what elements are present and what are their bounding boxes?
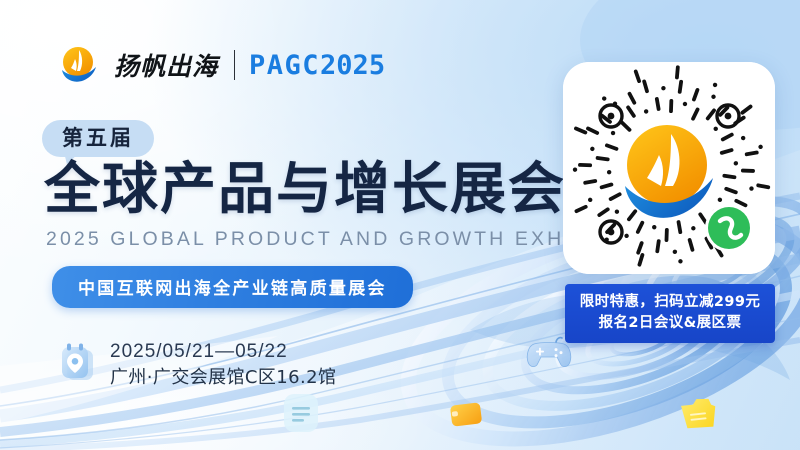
event-date: 2025/05/21—05/22 [110,340,336,365]
promo-banner[interactable]: 限时特惠，扫码立减299元 报名2日会议&展区票 [565,284,775,343]
document-icon [280,390,324,441]
poster-canvas: 扬帆出海 PAGC2025 第五届 全球产品与增长展会 2025 GLOBAL … [0,0,800,450]
event-info-text: 2025/05/21—05/22 广州·广交会展馆C区16.2馆 [110,340,336,390]
event-code-logo: PAGC2025 [249,50,385,81]
event-year: 2025 [320,50,385,81]
edition-badge-wrapper: 第五届 [42,120,154,157]
promo-line-1: 限时特惠，扫码立减299元 [571,292,769,313]
edition-badge: 第五届 [42,120,154,157]
promo-line-2: 报名2日会议&展区票 [571,313,769,334]
page-title: 全球产品与增长展会 [44,160,566,219]
location-pin-icon [58,342,100,388]
brand-name-zh: 扬帆出海 [114,47,218,83]
brand-logo-row[interactable]: 扬帆出海 PAGC2025 [58,42,385,88]
slogan-pill: 中国互联网出海全产业链高质量展会 [52,266,413,308]
wechat-miniprogram-icon [705,204,753,252]
sailboat-sun-logo-icon [58,43,102,87]
event-code: PAGC [249,50,320,81]
event-venue: 广州·广交会展馆C区16.2馆 [110,366,336,390]
logo-divider [234,50,235,80]
wechat-miniprogram-qr-code[interactable] [563,62,775,274]
wallet-card-icon [446,398,490,437]
folder-icon [676,394,726,441]
event-info-row: 2025/05/21—05/22 广州·广交会展馆C区16.2馆 [58,340,336,390]
